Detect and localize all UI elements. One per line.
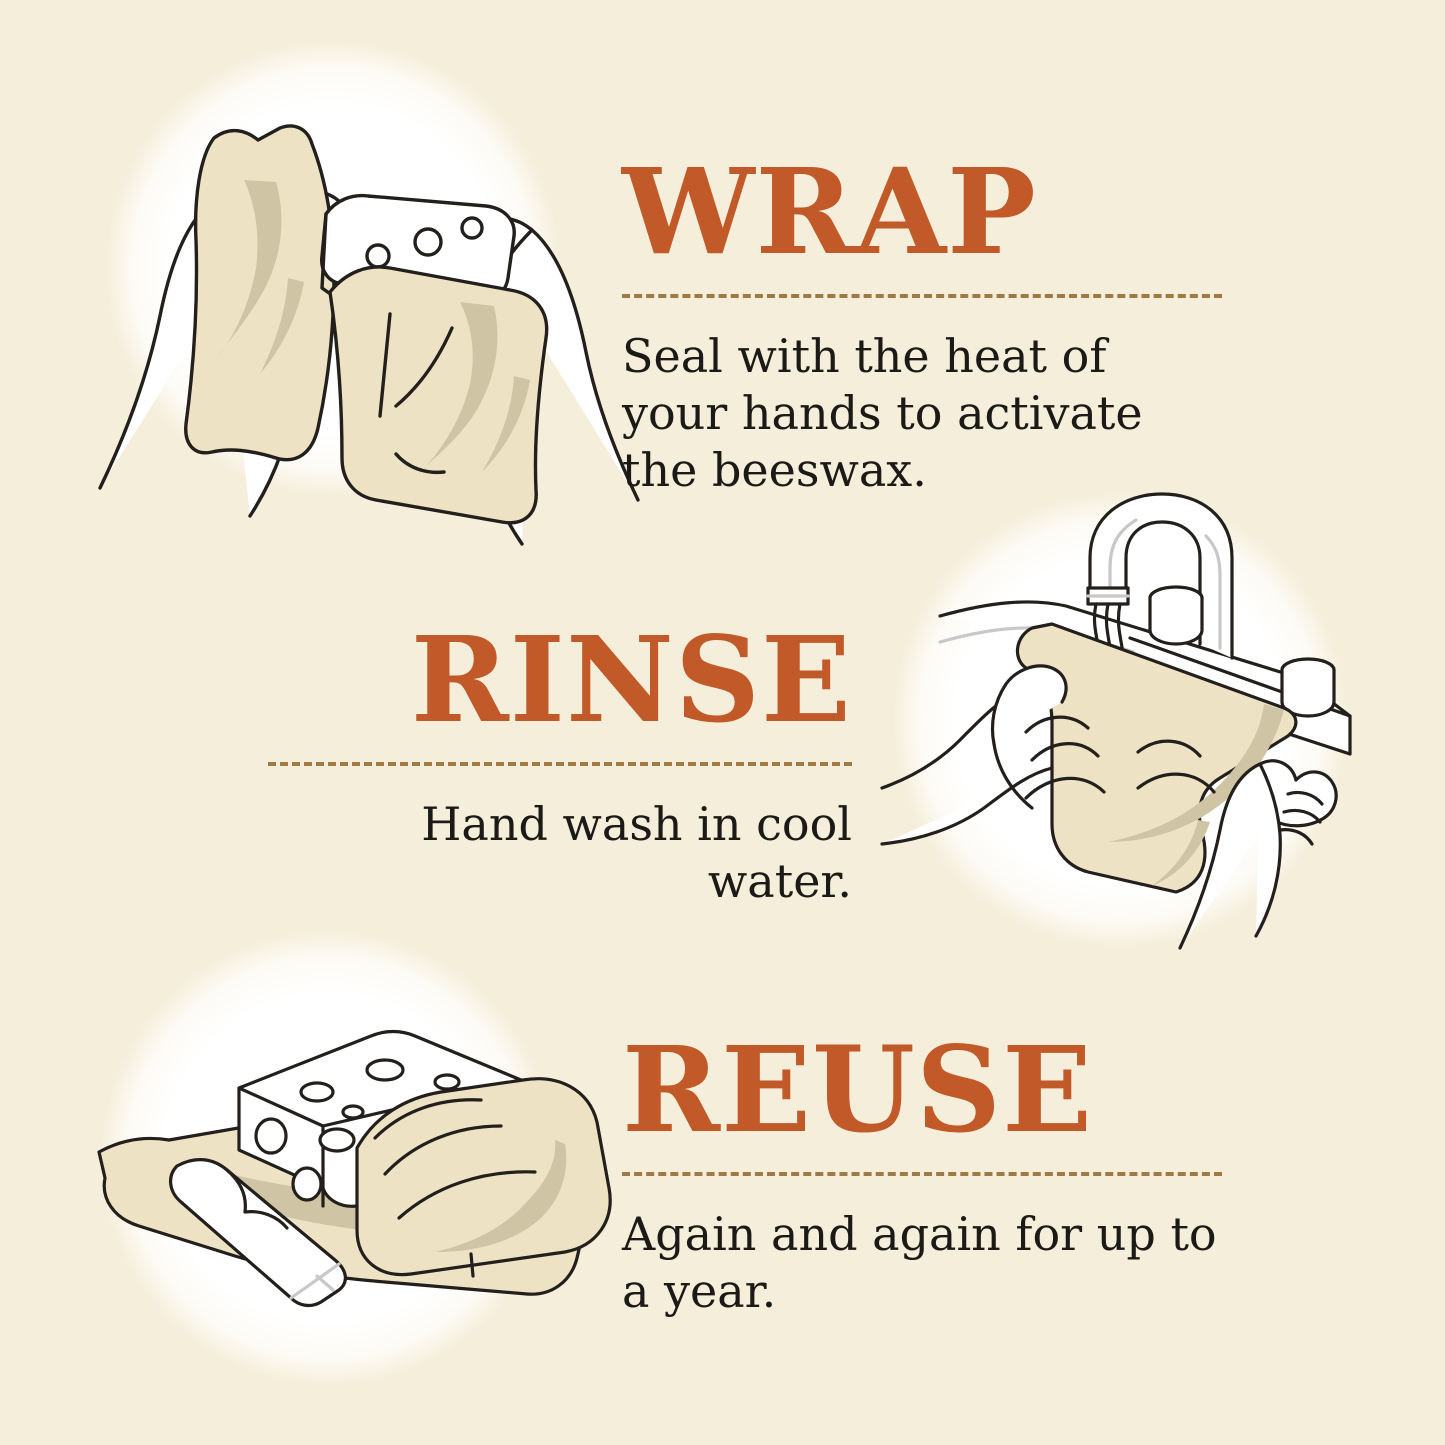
step-wrap-heading: WRAP xyxy=(622,152,1222,272)
step-reuse-body: Again and again for up to a year. xyxy=(622,1206,1222,1320)
step-reuse-text-column: REUSE Again and again for up to a year. xyxy=(622,1030,1222,1320)
beeswax-wrap-care-infographic: WRAP Seal with the heat of your hands to… xyxy=(0,0,1445,1445)
step-wrap-text-column: WRAP Seal with the heat of your hands to… xyxy=(622,152,1222,499)
hands-rinsing-wrap-under-faucet-illustration xyxy=(880,492,1380,952)
step-rinse-body: Hand wash in cool water. xyxy=(268,796,852,910)
step-rinse-divider xyxy=(268,762,852,766)
step-reuse-heading: REUSE xyxy=(622,1030,1222,1150)
hands-wrapping-sandwich-illustration xyxy=(90,30,650,550)
step-rinse-heading: RINSE xyxy=(268,620,852,740)
step-wrap-body: Seal with the heat of your hands to acti… xyxy=(622,328,1222,499)
step-wrap-divider xyxy=(622,294,1222,298)
step-rinse-text-column: RINSE Hand wash in cool water. xyxy=(268,620,852,910)
cheese-block-wrapped-with-knife-illustration xyxy=(85,930,645,1400)
step-reuse-divider xyxy=(622,1172,1222,1176)
